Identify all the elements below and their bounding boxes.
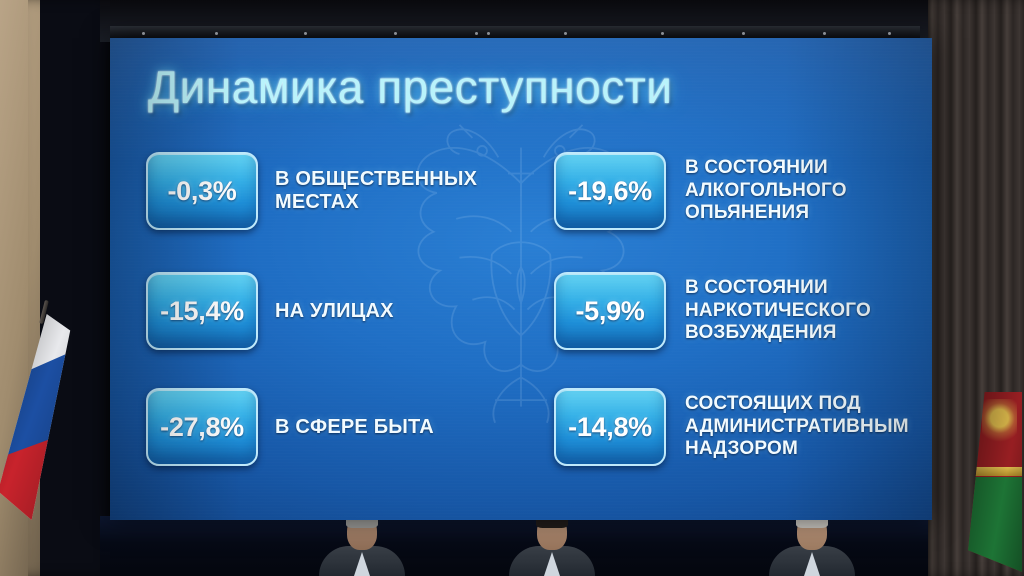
metric-value: -15,4% (160, 296, 244, 327)
metric-row-administrative-supervision: -14,8% СОСТОЯЩИХ ПОД АДМИНИСТРАТИВНЫМ НА… (554, 388, 932, 466)
metric-value: -0,3% (167, 176, 236, 207)
metrics-column-right: -19,6% В СОСТОЯНИИ АЛКОГОЛЬНОГО ОПЬЯНЕНИ… (554, 142, 932, 502)
flag-cloth (968, 392, 1022, 576)
metric-label-line: В СОСТОЯНИИ (685, 277, 871, 299)
metric-badge: -19,6% (554, 152, 666, 230)
metric-badge: -27,8% (146, 388, 258, 466)
metric-value: -5,9% (575, 296, 644, 327)
metric-label-line: ВОЗБУЖДЕНИЯ (685, 322, 871, 344)
metric-label: В СОСТОЯНИИ НАРКОТИЧЕСКОГО ВОЗБУЖДЕНИЯ (685, 277, 871, 344)
metric-row-drug-intoxication: -5,9% В СОСТОЯНИИ НАРКОТИЧЕСКОГО ВОЗБУЖД… (554, 272, 932, 350)
metric-label-line: НАДЗОРОМ (685, 438, 909, 460)
metric-row-streets: -15,4% НА УЛИЦАХ (146, 272, 546, 350)
conference-room-scene: Динамика преступности -0,3% В ОБЩЕСТВЕНН… (0, 0, 1024, 576)
metric-label: СОСТОЯЩИХ ПОД АДМИНИСТРАТИВНЫМ НАДЗОРОМ (685, 393, 909, 460)
metric-value: -19,6% (568, 176, 652, 207)
metric-label-line: СОСТОЯЩИХ ПОД (685, 393, 909, 415)
metric-label-line: В СФЕРЕ (275, 416, 374, 438)
russian-flag (4, 300, 78, 530)
metric-badge: -5,9% (554, 272, 666, 350)
metric-row-alcohol-intoxication: -19,6% В СОСТОЯНИИ АЛКОГОЛЬНОГО ОПЬЯНЕНИ… (554, 152, 932, 230)
metric-row-public-places: -0,3% В ОБЩЕСТВЕННЫХ МЕСТАХ (146, 152, 546, 230)
flag-cloth (0, 314, 82, 520)
metrics-grid: -0,3% В ОБЩЕСТВЕННЫХ МЕСТАХ -15,4% НА УЛ… (110, 142, 932, 502)
metric-label: В СФЕРЕ БЫТА (275, 416, 434, 439)
metric-badge: -0,3% (146, 152, 258, 230)
metric-label-line: АЛКОГОЛЬНОГО (685, 180, 847, 202)
stage-foreground (100, 516, 928, 576)
regional-flag (964, 392, 1022, 576)
metric-label-line: ОПЬЯНЕНИЯ (685, 202, 847, 224)
metric-label-line: НА УЛИЦАХ (275, 300, 394, 323)
metric-badge: -14,8% (554, 388, 666, 466)
metric-value: -14,8% (568, 412, 652, 443)
metric-label-line: В СОСТОЯНИИ (685, 157, 847, 179)
metric-label-line: НАРКОТИЧЕСКОГО (685, 300, 871, 322)
metric-value: -27,8% (160, 412, 244, 443)
metric-label-line: В ОБЩЕСТВЕННЫХ (275, 168, 477, 191)
metric-label-emphasis: БЫТА (374, 416, 434, 438)
metric-badge: -15,4% (146, 272, 258, 350)
metric-label-line: МЕСТАХ (275, 191, 477, 214)
metric-label-line: АДМИНИСТРАТИВНЫМ (685, 416, 909, 438)
metric-row-domestic: -27,8% В СФЕРЕ БЫТА (146, 388, 546, 466)
metrics-column-left: -0,3% В ОБЩЕСТВЕННЫХ МЕСТАХ -15,4% НА УЛ… (146, 142, 546, 502)
metric-label: НА УЛИЦАХ (275, 300, 394, 323)
slide-title: Динамика преступности (148, 60, 672, 114)
projection-screen-slide: Динамика преступности -0,3% В ОБЩЕСТВЕНН… (110, 38, 932, 520)
metric-label: В СОСТОЯНИИ АЛКОГОЛЬНОГО ОПЬЯНЕНИЯ (685, 157, 847, 224)
metric-label: В ОБЩЕСТВЕННЫХ МЕСТАХ (275, 168, 477, 213)
